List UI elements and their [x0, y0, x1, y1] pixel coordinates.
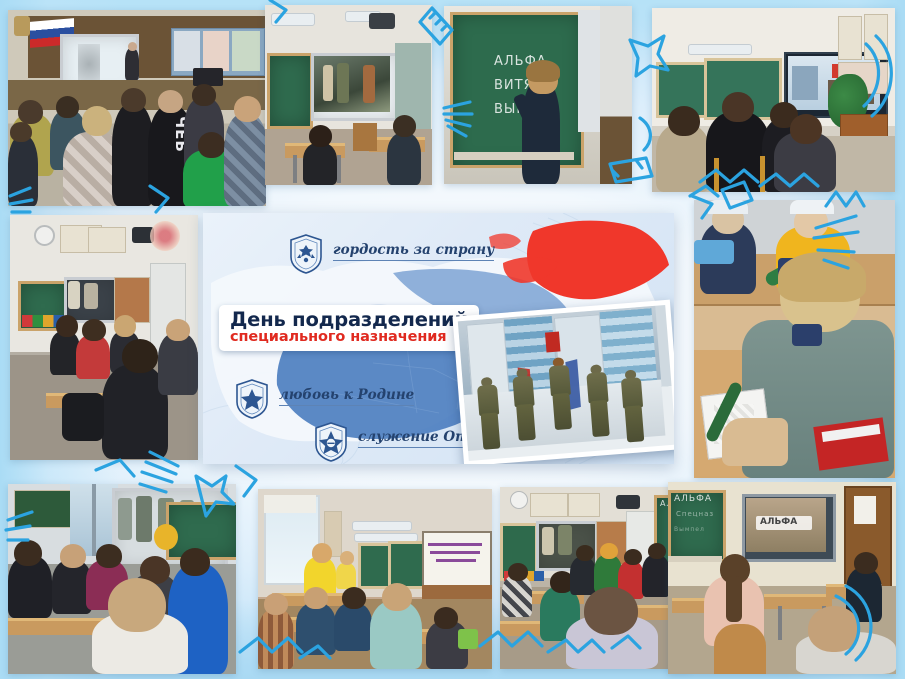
photo-students-watching-projection	[8, 484, 236, 674]
title-line-2: специального назначения	[230, 330, 468, 345]
special-forces-soldiers-photo	[452, 300, 674, 464]
collage-canvas: ЧЕБ	[0, 0, 905, 679]
slogan-2-underline	[279, 405, 414, 406]
photo-classroom-alfa-screen: АЛЬФА Спецназ Вымпел АЛЬФА	[668, 482, 896, 674]
photo-children-drawing-desks	[694, 200, 895, 478]
eagle-emblem-shield-icon	[289, 234, 323, 274]
central-poster: гордость за страну День подразделений сп…	[203, 213, 674, 464]
photo-chalkboard-alfa-vityaz: АЛЬФА ВИТЯЗЬ ВЫМП	[444, 6, 632, 184]
photo-assembly-hall-lecture: ЧЕБ	[8, 10, 266, 206]
slogan-1-text: гордость за страну	[333, 242, 494, 258]
star-shield-icon	[235, 379, 269, 419]
photo-classroom-video-lesson: АЛЬФА	[500, 487, 690, 669]
photo-teacher-young-students	[258, 489, 492, 669]
slogan-2-text: любовь к Родине	[279, 387, 414, 403]
slogan-1-underline	[333, 260, 494, 261]
photo-classroom-projector-clock	[10, 215, 198, 460]
slogan-1: гордость за страну	[333, 242, 494, 261]
title-line-1: День подразделений	[230, 310, 468, 330]
spetsnaz-star-shield-icon	[314, 422, 348, 462]
photo-classroom-projection-soldiers	[265, 5, 432, 185]
slogan-2: любовь к Родине	[279, 387, 414, 406]
page-title: День подразделений специального назначен…	[219, 305, 479, 351]
photo-classroom-tv-presentation	[652, 8, 895, 192]
